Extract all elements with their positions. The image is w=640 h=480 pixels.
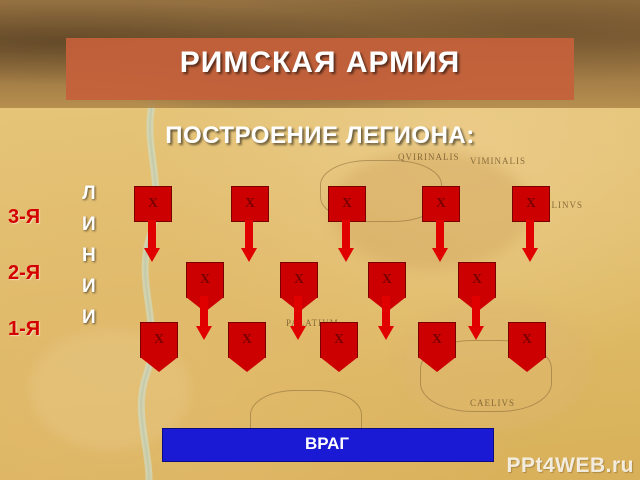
unit-marker: X — [280, 262, 318, 298]
unit-glyph: X — [329, 187, 365, 221]
unit-glyph: X — [321, 323, 357, 357]
page-title: РИМСКАЯ АРМИЯ — [66, 46, 574, 80]
unit-glyph: X — [141, 323, 177, 357]
arrow-head — [144, 248, 160, 262]
line-label-2: 2-Я — [8, 262, 40, 285]
map-label: QVIRINALIS — [398, 152, 460, 162]
unit-marker: X — [134, 186, 172, 222]
arrow-shaft — [148, 220, 156, 248]
unit-marker: X — [328, 186, 366, 222]
vertical-letter: И — [82, 302, 96, 333]
unit-marker: X — [231, 186, 269, 222]
movement-arrow — [468, 296, 484, 340]
line-label-3: 3-Я — [8, 206, 40, 229]
movement-arrow — [144, 220, 160, 262]
map-label: VIMINALIS — [470, 156, 526, 166]
unit-glyph: X — [229, 323, 265, 357]
vertical-letter: Н — [82, 240, 96, 271]
subtitle: ПОСТРОЕНИЕ ЛЕГИОНА: — [110, 122, 530, 150]
arrow-shaft — [200, 296, 208, 326]
arrow-shaft — [342, 220, 350, 248]
unit-glyph: X — [509, 323, 545, 357]
movement-arrow — [196, 296, 212, 340]
unit-marker: X — [422, 186, 460, 222]
movement-arrow — [432, 220, 448, 262]
movement-arrow — [241, 220, 257, 262]
movement-arrow — [338, 220, 354, 262]
unit-marker: X — [458, 262, 496, 298]
map-label: CAELIVS — [470, 398, 515, 408]
arrow-head — [196, 326, 212, 340]
unit-glyph: X — [232, 187, 268, 221]
vertical-letter: И — [82, 209, 96, 240]
vertical-word-linii: Л И Н И И — [82, 178, 96, 333]
river-shape — [120, 96, 190, 480]
unit-marker: X — [418, 322, 456, 358]
unit-glyph: X — [135, 187, 171, 221]
arrow-head — [468, 326, 484, 340]
unit-marker: X — [512, 186, 550, 222]
unit-glyph: X — [281, 263, 317, 297]
line-label-1: 1-Я — [8, 318, 40, 341]
arrow-head — [432, 248, 448, 262]
movement-arrow — [378, 296, 394, 340]
unit-marker: X — [186, 262, 224, 298]
arrow-shaft — [294, 296, 302, 326]
vertical-letter: И — [82, 271, 96, 302]
movement-arrow — [290, 296, 306, 340]
vertical-letter: Л — [82, 178, 95, 209]
arrow-shaft — [382, 296, 390, 326]
enemy-label: ВРАГ — [162, 434, 492, 454]
unit-glyph: X — [459, 263, 495, 297]
slide-canvas: QVIRINALIS VIMINALIS ESQVILINVS PALATIVM… — [0, 0, 640, 480]
arrow-head — [241, 248, 257, 262]
movement-arrow — [522, 220, 538, 262]
arrow-shaft — [472, 296, 480, 326]
unit-glyph: X — [513, 187, 549, 221]
unit-marker: X — [508, 322, 546, 358]
unit-marker: X — [228, 322, 266, 358]
arrow-head — [522, 248, 538, 262]
unit-marker: X — [320, 322, 358, 358]
arrow-shaft — [245, 220, 253, 248]
unit-glyph: X — [369, 263, 405, 297]
arrow-shaft — [436, 220, 444, 248]
unit-glyph: X — [423, 187, 459, 221]
unit-glyph: X — [187, 263, 223, 297]
unit-marker: X — [368, 262, 406, 298]
unit-glyph: X — [419, 323, 455, 357]
arrow-head — [338, 248, 354, 262]
arrow-head — [378, 326, 394, 340]
arrow-shaft — [526, 220, 534, 248]
unit-marker: X — [140, 322, 178, 358]
arrow-head — [290, 326, 306, 340]
watermark: PPt4WEB.ru — [506, 454, 634, 478]
